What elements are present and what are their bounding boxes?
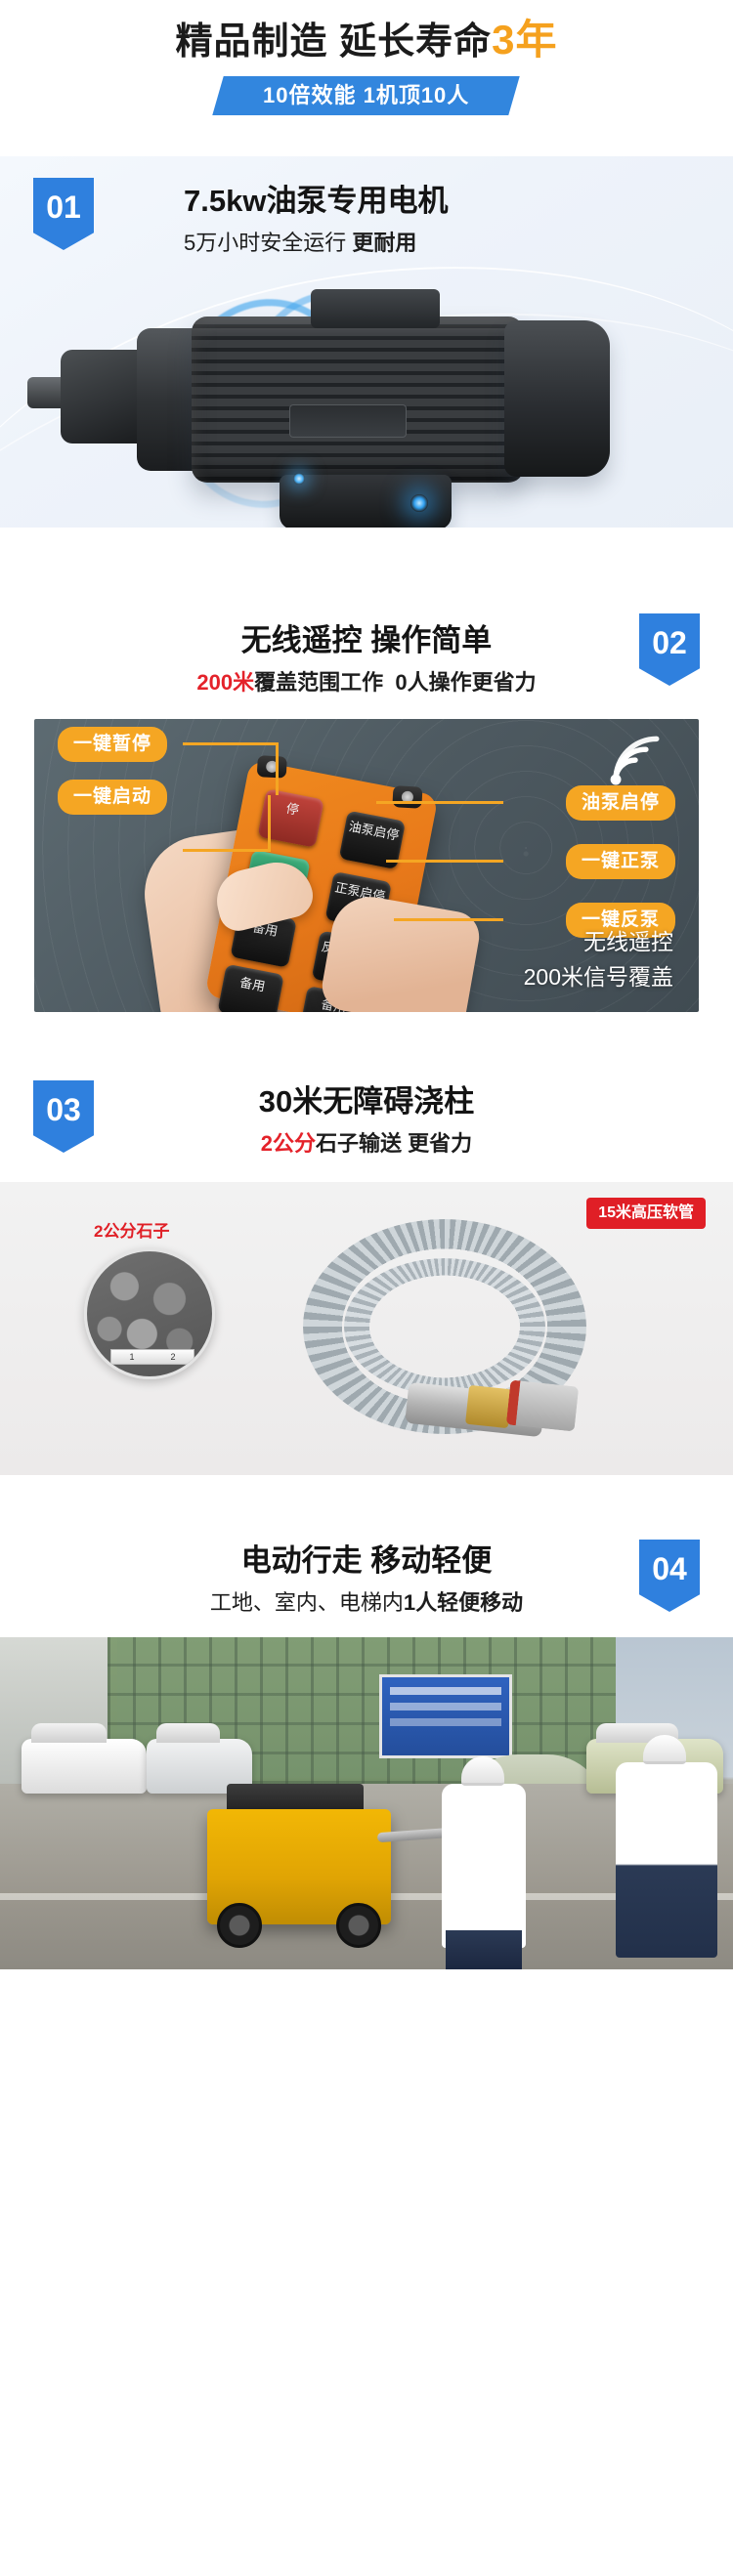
section-02-sub-plain: 覆盖范围工作 — [254, 670, 383, 695]
site-worker-1 — [442, 1784, 526, 1948]
machine-wheel-left — [217, 1903, 262, 1948]
section-04-mobility: 电动行走 移动轻便 工地、室内、电梯内1人轻便移动 04 — [0, 1540, 733, 1969]
machine-wheel-right — [336, 1903, 381, 1948]
section-01-sub-plain: 5万小时安全运行 — [184, 231, 346, 255]
section-03-hose: 03 30米无障碍浇柱 2公分石子输送 更省力 15米高压软管 2公分石子 1 … — [0, 1080, 733, 1475]
remote-caption: 无线遥控 200米信号覆盖 — [524, 924, 673, 994]
construction-site-image — [0, 1637, 733, 1969]
lead-line-start — [183, 795, 271, 852]
section-03-header: 03 30米无障碍浇柱 2公分石子输送 更省力 — [0, 1080, 733, 1161]
hose-coupler — [506, 1379, 579, 1431]
section-badge-04: 04 — [639, 1540, 700, 1612]
stone-sample-photo: 1 2 — [84, 1248, 215, 1379]
section-04-text: 电动行走 移动轻便 工地、室内、电梯内1人轻便移动 — [210, 1540, 523, 1620]
hose-and-stone-image: 15米高压软管 2公分石子 1 2 — [0, 1182, 733, 1475]
callout-forward-pump: 一键正泵 — [566, 844, 675, 879]
hose-brass-fitting — [465, 1385, 512, 1428]
section-badge-01: 01 — [33, 178, 94, 250]
wifi-signal-icon — [607, 735, 664, 787]
coiled-hose-inner — [344, 1258, 545, 1395]
site-worker-1-legs — [446, 1930, 522, 1969]
lead-line-pump-toggle — [376, 801, 503, 804]
section-01-header: 01 7.5kw油泵专用电机 5万小时安全运行 更耐用 — [0, 156, 733, 260]
ruler-mark-1: 1 — [129, 1352, 134, 1362]
site-van-1 — [22, 1739, 147, 1794]
ruler-mark-2: 2 — [170, 1352, 175, 1362]
motor-glow-led — [410, 494, 428, 512]
page-title-main: 精品制造 延长寿命 — [176, 21, 493, 63]
tag-high-pressure-hose: 15米高压软管 — [586, 1198, 706, 1229]
section-02-header: 无线遥控 操作简单 200米覆盖范围工作 0人操作更省力 02 — [0, 613, 733, 699]
site-signboard — [379, 1674, 512, 1758]
product-detail-page: 精品制造 延长寿命3年 10倍效能 1机顶10人 01 7.5kw油泵专用电机 … — [0, 0, 733, 2576]
remote-key-spare-2[interactable]: 备用 — [217, 964, 283, 1012]
section-03-text: 30米无障碍浇柱 2公分石子输送 更省力 — [259, 1080, 474, 1161]
section-02-subtitle: 200米覆盖范围工作 0人操作更省力 — [196, 666, 536, 699]
section-04-sub-bold: 1人轻便移动 — [404, 1590, 523, 1615]
section-04-title: 电动行走 移动轻便 — [210, 1540, 523, 1583]
page-header: 精品制造 延长寿命3年 10倍效能 1机顶10人 — [0, 0, 733, 156]
motor-junction-box — [311, 289, 440, 328]
section-badge-02: 02 — [639, 613, 700, 686]
section-02-text: 无线遥控 操作简单 200米覆盖范围工作 0人操作更省力 — [196, 619, 536, 699]
callout-pump-toggle: 油泵启停 — [566, 785, 675, 821]
callout-start: 一键启动 — [58, 780, 167, 815]
stone-ruler: 1 2 — [110, 1349, 194, 1365]
section-02-sub-red: 200米 — [196, 670, 254, 695]
section-01-motor: 01 7.5kw油泵专用电机 5万小时安全运行 更耐用 — [0, 156, 733, 528]
section-02-sub-plain2: 0人操作更省力 — [395, 670, 536, 695]
motor-nameplate — [289, 404, 407, 438]
page-title: 精品制造 延长寿命3年 — [0, 14, 733, 68]
section-01-title: 7.5kw油泵专用电机 — [184, 180, 448, 223]
header-banner-label: 10倍效能 1机顶10人 — [263, 79, 469, 112]
remote-screw-right — [392, 785, 422, 809]
motor-body — [192, 317, 524, 483]
section-badge-03: 03 — [33, 1080, 94, 1153]
site-worker-2 — [616, 1762, 717, 1958]
remote-caption-line1: 无线遥控 — [524, 924, 673, 959]
motor-image — [0, 281, 733, 528]
motor-glow-small — [293, 473, 305, 485]
section-03-sub-plain: 石子输送 更省力 — [316, 1131, 472, 1156]
header-banner: 10倍效能 1机顶10人 — [213, 76, 521, 115]
section-03-title: 30米无障碍浇柱 — [259, 1080, 474, 1123]
motor-end-cap — [504, 320, 610, 477]
label-stone-size: 2公分石子 — [94, 1217, 169, 1242]
callout-pause: 一键暂停 — [58, 727, 167, 762]
remote-caption-line2: 200米信号覆盖 — [524, 959, 673, 994]
lead-line-reverse — [394, 918, 503, 921]
section-02-title: 无线遥控 操作简单 — [196, 619, 536, 662]
section-04-subtitle: 工地、室内、电梯内1人轻便移动 — [210, 1586, 523, 1620]
section-03-subtitle: 2公分石子输送 更省力 — [259, 1127, 474, 1161]
section-01-sub-bold: 更耐用 — [352, 231, 416, 255]
section-01-text: 7.5kw油泵专用电机 5万小时安全运行 更耐用 — [184, 180, 448, 260]
section-04-header: 电动行走 移动轻便 工地、室内、电梯内1人轻便移动 04 — [0, 1540, 733, 1620]
header-banner-wrap: 10倍效能 1机顶10人 — [0, 76, 733, 115]
remote-control-image: 停 油泵启停 启动 正泵启停 备用 反泵启停 备用 备用 一键暂停 一键启动 油… — [34, 719, 699, 1012]
section-03-sub-red: 2公分 — [261, 1131, 316, 1156]
section-02-remote: 无线遥控 操作简单 200米覆盖范围工作 0人操作更省力 02 — [0, 613, 733, 1012]
hand-right — [319, 891, 484, 1012]
section-04-sub-plain: 工地、室内、电梯内 — [210, 1590, 404, 1615]
section-01-subtitle: 5万小时安全运行 更耐用 — [184, 227, 448, 260]
page-title-highlight: 3年 — [492, 17, 557, 63]
lead-line-forward — [386, 860, 503, 863]
lead-line-pause — [183, 742, 279, 795]
